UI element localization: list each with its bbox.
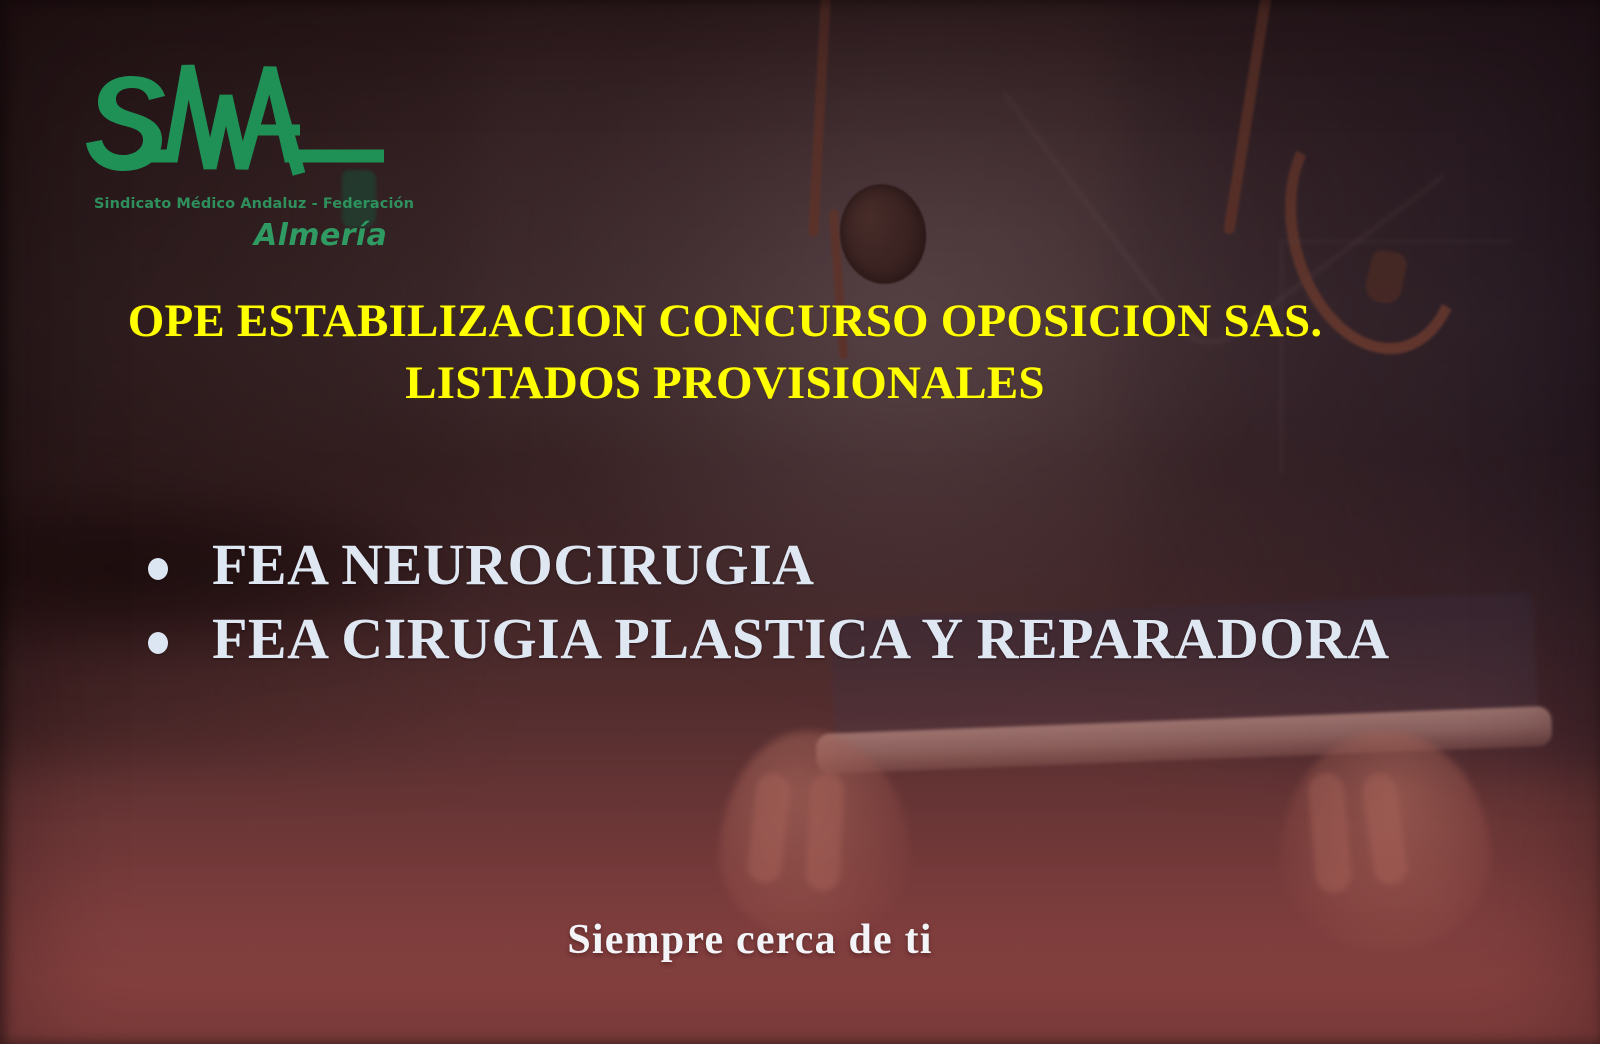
page-title: OPE ESTABILIZACION CONCURSO OPOSICION SA…	[60, 290, 1390, 414]
footer-tagline: Siempre cerca de ti	[0, 916, 1600, 964]
page-title-line-2: LISTADOS PROVISIONALES	[60, 352, 1390, 414]
logo-city: Almería	[254, 218, 387, 253]
logo-subtitle: Sindicato Médico Andaluz - Federación	[94, 196, 414, 212]
slide-canvas: Sindicato Médico Andaluz - Federación Al…	[0, 0, 1600, 1044]
slide-content: Sindicato Médico Andaluz - Federación Al…	[0, 0, 1600, 1044]
list-item: FEA CIRUGIA PLASTICA Y REPARADORA	[130, 602, 1530, 676]
sma-logo: Sindicato Médico Andaluz - Federación Al…	[84, 58, 414, 258]
page-title-line-1: OPE ESTABILIZACION CONCURSO OPOSICION SA…	[60, 290, 1390, 352]
footer-tagline-text: Siempre cerca de ti	[567, 916, 932, 964]
list-item: FEA NEUROCIRUGIA	[130, 528, 1530, 602]
specialty-list: FEA NEUROCIRUGIA FEA CIRUGIA PLASTICA Y …	[130, 528, 1530, 675]
sma-ecg-logo-icon	[84, 58, 384, 178]
